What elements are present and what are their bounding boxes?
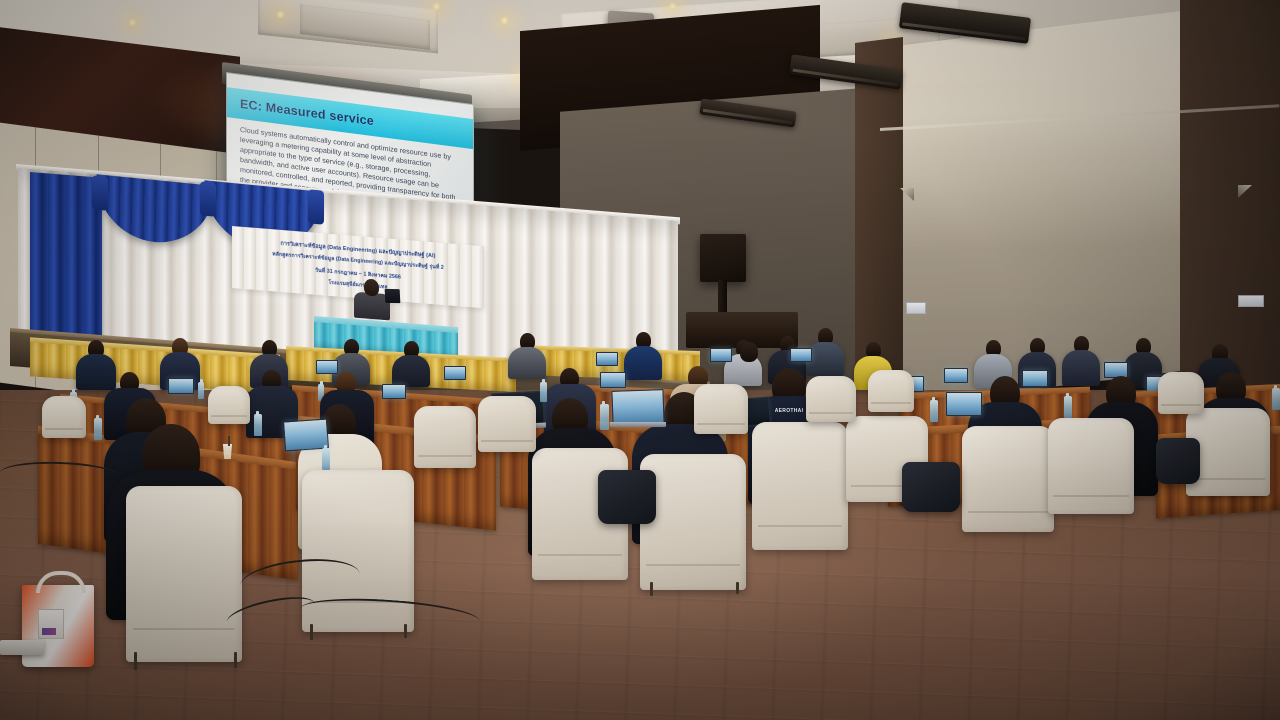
power-strip xyxy=(0,640,44,655)
laptop xyxy=(611,389,664,425)
water-bottle xyxy=(322,448,330,470)
laptop xyxy=(710,348,732,362)
straw xyxy=(228,436,230,446)
chair xyxy=(694,384,748,434)
chair-leg xyxy=(310,624,313,640)
laptop xyxy=(600,372,626,388)
presenter-laptop xyxy=(385,289,401,303)
attendee xyxy=(508,347,546,379)
laptop xyxy=(790,348,812,362)
chair xyxy=(752,422,848,550)
chair xyxy=(126,486,242,662)
water-bottle xyxy=(1064,396,1072,418)
chair xyxy=(414,406,476,468)
chair xyxy=(1158,372,1204,414)
water-bottle xyxy=(94,418,102,440)
water-bottle xyxy=(540,382,547,402)
downlight-icon xyxy=(668,2,677,11)
water-bottle xyxy=(198,382,204,399)
chair-leg xyxy=(134,652,137,670)
right-wall-panel xyxy=(880,7,1210,408)
backpack xyxy=(598,470,656,524)
chair xyxy=(1048,418,1134,514)
laptop xyxy=(444,366,466,380)
attendee xyxy=(624,346,662,380)
wall-sign xyxy=(906,302,926,314)
laptop xyxy=(946,392,982,416)
chair xyxy=(962,426,1054,532)
chair xyxy=(640,454,746,590)
backpack xyxy=(902,462,960,512)
chair xyxy=(478,396,536,452)
chair xyxy=(42,396,86,438)
laptop xyxy=(596,352,618,366)
swag-knot xyxy=(200,181,216,216)
slide-title: EC: Measured service xyxy=(240,97,374,128)
tote-bag-label xyxy=(38,609,64,639)
chair xyxy=(868,370,914,412)
water-bottle xyxy=(600,404,609,430)
swag-knot xyxy=(308,189,324,224)
laptop xyxy=(382,384,406,399)
attendee-head xyxy=(740,342,758,362)
attendee xyxy=(392,355,430,387)
conference-room-photo: EC: Measured service Cloud systems autom… xyxy=(0,0,1280,720)
presenter-head xyxy=(364,278,379,296)
swag-knot xyxy=(92,175,108,210)
chair-leg xyxy=(234,652,237,668)
laptop xyxy=(168,378,194,394)
chair-leg xyxy=(650,582,653,596)
laptop xyxy=(316,360,338,374)
laptop xyxy=(283,419,329,452)
wall-sign xyxy=(1238,295,1264,307)
backpack xyxy=(1156,438,1200,484)
downlight-icon xyxy=(432,2,441,11)
attendee xyxy=(1062,350,1100,386)
chair xyxy=(806,376,856,422)
laptop xyxy=(1022,370,1048,387)
downlight-icon xyxy=(276,10,285,19)
water-bottle xyxy=(254,414,262,436)
water-bottle xyxy=(930,400,938,422)
water-bottle xyxy=(1272,388,1280,410)
jacket-text: AEROTHAI xyxy=(775,408,804,414)
laptop xyxy=(944,368,968,383)
downlight-icon xyxy=(128,18,137,27)
attendee xyxy=(76,354,116,390)
chair xyxy=(208,386,250,424)
laptop-base xyxy=(610,422,666,427)
pa-speaker xyxy=(700,234,746,282)
downlight-icon xyxy=(500,16,509,25)
chair-leg xyxy=(736,582,739,594)
